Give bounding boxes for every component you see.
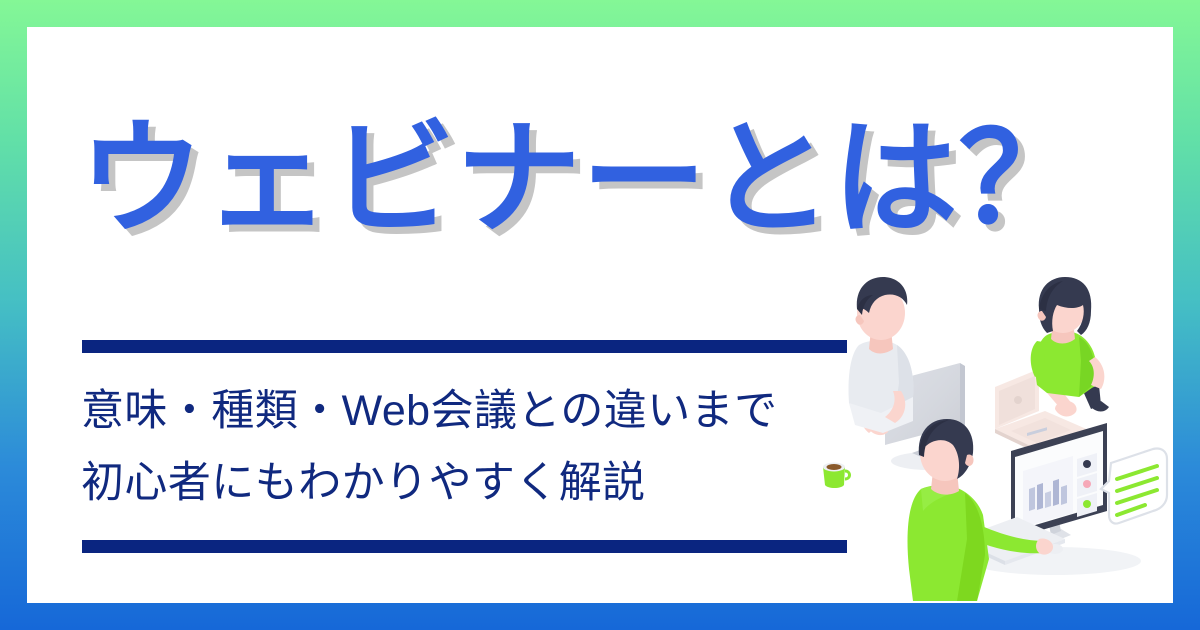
- divider-rule-top: [82, 340, 847, 353]
- subtitle-line-1: 意味・種類・Web会議との違いまで: [81, 375, 871, 447]
- webinar-illustration: [817, 271, 1169, 601]
- person-green-shirt: [1031, 277, 1109, 416]
- figure-green-sweater-desktop-group: [908, 419, 1168, 601]
- coffee-mug-green: [823, 463, 850, 489]
- person-gray-shirt: [848, 277, 913, 435]
- subtitle-block: 意味・種類・Web会議との違いまで 初心者にもわかりやすく解説: [81, 375, 871, 519]
- participant-thumbnails: [1077, 453, 1097, 517]
- divider-rule-bottom: [82, 540, 847, 553]
- banner-root: ウェビナーとは？ 意味・種類・Web会議との違いまで 初心者にもわかりやすく解説: [0, 0, 1200, 630]
- subtitle-line-2: 初心者にもわかりやすく解説: [81, 447, 871, 519]
- chat-bubble: [1101, 448, 1167, 523]
- page-title: ウェビナーとは？: [79, 105, 1089, 255]
- white-content-panel: ウェビナーとは？ 意味・種類・Web会議との違いまで 初心者にもわかりやすく解説: [27, 27, 1173, 603]
